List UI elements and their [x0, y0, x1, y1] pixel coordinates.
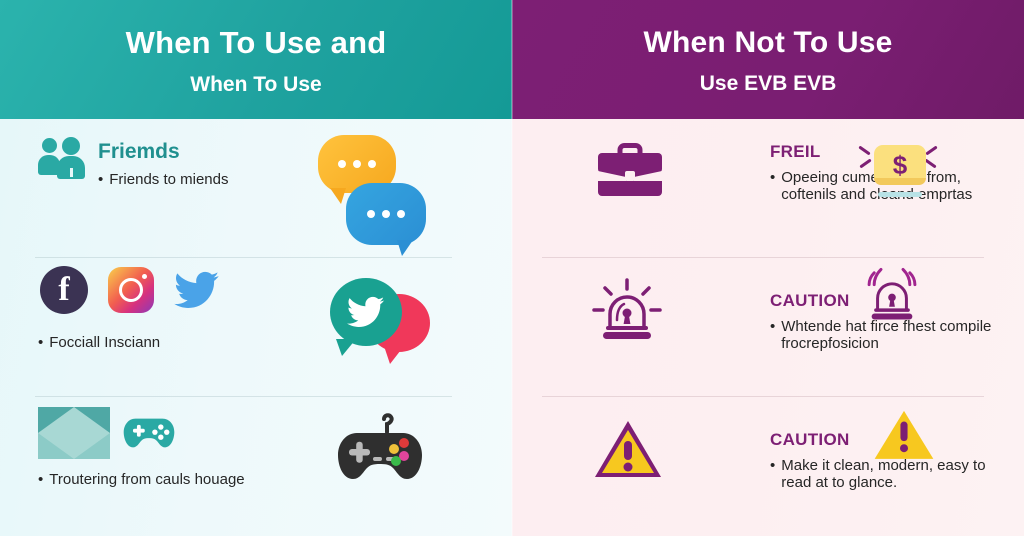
briefcase-glyph-icon	[594, 141, 666, 201]
left-row-1-heading: Friemds	[98, 141, 180, 162]
money-badge-icon: $	[856, 139, 940, 201]
bullet-marker: •	[770, 318, 775, 353]
left-body: Friemds • Friends to miends	[0, 119, 512, 536]
social-logos-icon: f	[40, 266, 220, 314]
alarm-lock-small-glyph-icon	[862, 266, 922, 322]
alarm-lock-icon	[592, 276, 662, 347]
left-row-2-bullet: • Focciall Insciann	[38, 334, 298, 351]
left-row-3-bullet: • Troutering from cauls houage	[38, 471, 288, 488]
right-body: FREIL • Opeeing cumen's the from, coften…	[512, 119, 1024, 536]
warning-triangle-icon	[592, 417, 664, 486]
bullet-marker: •	[770, 457, 775, 492]
facebook-icon: f	[40, 266, 88, 314]
right-header-title: When Not To Use	[643, 27, 892, 59]
left-row-3-text: • Troutering from cauls houage	[38, 471, 288, 488]
twitter-bird-glyph-icon	[347, 296, 385, 328]
left-row-2-bullet-text: Focciall Insciann	[49, 334, 160, 351]
bullet-marker: •	[98, 171, 103, 188]
infographic-root: When To Use and When To Use Friemds	[0, 0, 1024, 536]
gamepad-glyph-icon	[332, 413, 428, 485]
gamepad-small-icon	[122, 413, 176, 458]
left-row-3: • Troutering from cauls houage	[0, 397, 512, 536]
briefcase-icon	[594, 141, 666, 206]
gamepad-small-glyph-icon	[122, 413, 176, 453]
warning-triangle-glyph-icon	[592, 417, 664, 481]
people-icon	[38, 137, 92, 177]
warning-triangle-icon-small	[872, 405, 936, 468]
right-row-2-heading: CAUTION	[770, 292, 850, 309]
bullet-marker: •	[770, 169, 775, 204]
left-column: When To Use and When To Use Friemds	[0, 0, 512, 536]
left-row-1: Friemds • Friends to miends	[0, 119, 512, 258]
left-row-1-bullet: • Friends to miends	[98, 171, 298, 188]
right-row-3: CAUTION • Make it clean, modern, easy to…	[512, 397, 1024, 536]
right-row-2: CAUTION • Whtende hat firce fhest compil…	[512, 258, 1024, 397]
right-row-1: FREIL • Opeeing cumen's the from, coften…	[512, 119, 1024, 258]
alarm-lock-icon-small	[862, 266, 922, 327]
right-header: When Not To Use Use EVB EVB	[512, 0, 1024, 119]
column-divider	[512, 0, 513, 536]
right-row-3-heading: CAUTION	[770, 431, 850, 448]
left-row-2: f • Focciall Insciann	[0, 258, 512, 397]
instagram-icon	[108, 267, 154, 313]
left-header: When To Use and When To Use	[0, 0, 512, 119]
dollar-sign-icon: $	[893, 150, 907, 181]
left-row-1-text: Friemds • Friends to miends	[98, 141, 298, 188]
right-column: When Not To Use Use EVB EVB	[512, 0, 1024, 536]
bullet-marker: •	[38, 334, 43, 351]
left-row-1-bullet-text: Friends to miends	[109, 171, 228, 188]
left-row-2-text: • Focciall Insciann	[38, 334, 298, 351]
bullet-marker: •	[38, 471, 43, 488]
alarm-lock-glyph-icon	[592, 276, 662, 342]
envelope-icon	[38, 407, 110, 459]
chat-bubbles-icon	[316, 133, 431, 243]
twitter-bubbles-icon	[330, 278, 430, 370]
right-row-1-heading: FREIL	[770, 143, 821, 160]
gamepad-icon	[332, 413, 428, 490]
left-header-subtitle: When To Use	[190, 73, 321, 97]
twitter-bird-icon	[174, 271, 220, 309]
left-row-3-bullet-text: Troutering from cauls houage	[49, 471, 244, 488]
left-header-title: When To Use and	[126, 26, 387, 59]
right-header-subtitle: Use EVB EVB	[700, 72, 837, 96]
warning-triangle-small-glyph-icon	[872, 405, 936, 463]
